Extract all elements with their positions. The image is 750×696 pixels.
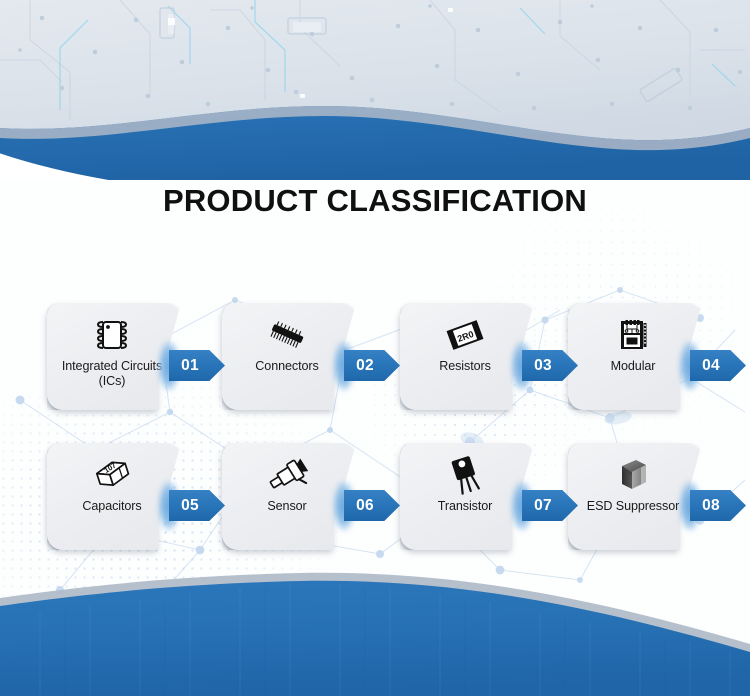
category-badge-08: 08	[690, 490, 746, 521]
category-number: 02	[344, 350, 386, 381]
category-label: Sensor	[228, 499, 346, 514]
category-number: 06	[344, 490, 386, 521]
category-label: Modular	[574, 359, 692, 374]
category-card-transistor[interactable]: Transistor 07	[400, 443, 580, 561]
esd-suppressor-chip-icon	[610, 453, 656, 497]
category-card-sensor[interactable]: Sensor 06	[222, 443, 402, 561]
smd-resistor-icon: 2R0	[442, 313, 488, 357]
category-label: Connectors	[228, 359, 346, 374]
category-label: ESD Suppressor	[574, 499, 692, 514]
category-card-resistors[interactable]: 2R0 Resistors 03	[400, 303, 580, 421]
product-classification-page: PRODUCT CLASSIFICATION	[0, 0, 750, 696]
category-card-esd-suppressor[interactable]: ESD Suppressor 08	[568, 443, 748, 561]
page-title: PRODUCT CLASSIFICATION	[0, 183, 750, 219]
module-board-icon	[610, 313, 656, 357]
top-banner-graphic	[0, 0, 750, 180]
sensor-probe-icon	[264, 453, 310, 497]
category-badge-06: 06	[344, 490, 400, 521]
category-number: 07	[522, 490, 564, 521]
category-card-capacitors[interactable]: 107 Capacitors 05	[47, 443, 227, 561]
category-label: Resistors	[406, 359, 524, 374]
category-number: 05	[169, 490, 211, 521]
category-card-modular[interactable]: Modular 04	[568, 303, 748, 421]
category-row-1: Integrated Circuits (ICs) 01	[0, 295, 750, 435]
category-badge-03: 03	[522, 350, 578, 381]
category-card-connectors[interactable]: Connectors 02	[222, 303, 402, 421]
category-card-integrated-circuits[interactable]: Integrated Circuits (ICs) 01	[47, 303, 227, 421]
to220-transistor-icon	[442, 453, 488, 497]
top-banner	[0, 0, 750, 180]
category-label: Capacitors	[53, 499, 171, 514]
category-badge-04: 04	[690, 350, 746, 381]
category-grid: Integrated Circuits (ICs) 01	[0, 295, 750, 575]
category-row-2: 107 Capacitors 05	[0, 435, 750, 575]
category-label: Integrated Circuits (ICs)	[53, 359, 171, 388]
category-number: 01	[169, 350, 211, 381]
category-badge-01: 01	[169, 350, 225, 381]
category-number: 08	[690, 490, 732, 521]
category-badge-02: 02	[344, 350, 400, 381]
smd-capacitor-icon: 107	[89, 453, 135, 497]
category-badge-07: 07	[522, 490, 578, 521]
pin-header-connector-icon	[264, 313, 310, 357]
category-number: 03	[522, 350, 564, 381]
category-number: 04	[690, 350, 732, 381]
category-label: Transistor	[406, 499, 524, 514]
integrated-circuit-icon	[89, 313, 135, 357]
category-badge-05: 05	[169, 490, 225, 521]
